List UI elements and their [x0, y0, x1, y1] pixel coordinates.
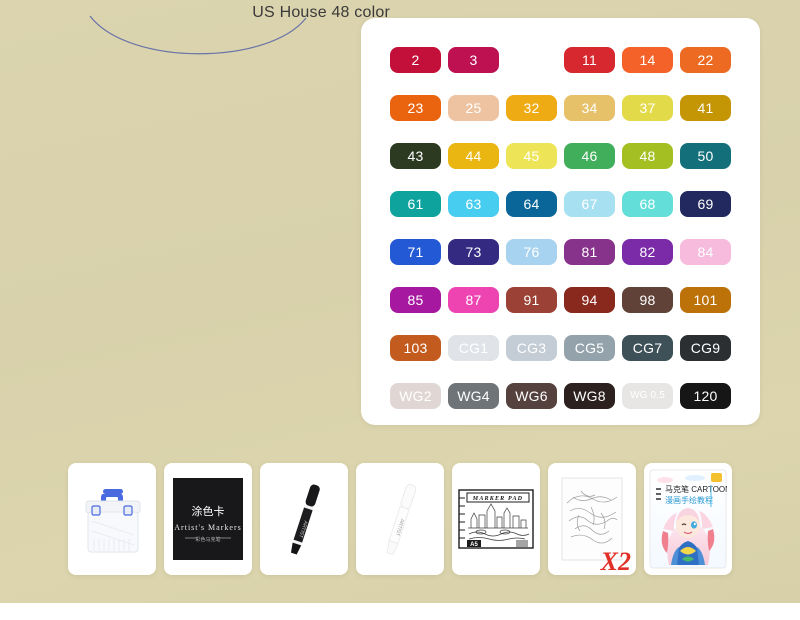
color-swatch[interactable]: 87 [448, 287, 499, 313]
thumbnail-black-marker-pen[interactable]: ARTIST [260, 463, 348, 575]
color-swatch[interactable]: CG7 [622, 335, 673, 361]
thumbnail-tutorial-book[interactable]: 马克笔 CARTOON 漫画手绘教程 [644, 463, 732, 575]
color-swatch[interactable]: 34 [564, 95, 615, 121]
color-swatch[interactable]: 41 [680, 95, 731, 121]
marker-pad-size: A5 [470, 542, 478, 548]
color-swatch[interactable]: WG 0,5 [622, 383, 673, 409]
color-swatch[interactable]: WG4 [448, 383, 499, 409]
color-swatch[interactable]: WG8 [564, 383, 615, 409]
color-card-line1: 涂色卡 [192, 504, 225, 518]
color-swatch[interactable]: 61 [390, 191, 441, 217]
color-swatch[interactable]: 82 [622, 239, 673, 265]
color-swatch[interactable]: 76 [506, 239, 557, 265]
black-marker-pen-icon: ARTIST [269, 473, 339, 565]
color-swatch[interactable]: 98 [622, 287, 673, 313]
color-swatch[interactable]: CG5 [564, 335, 615, 361]
carry-case-icon [76, 475, 148, 563]
thumbnail-marker-pad[interactable]: MARKER PAD A5 [452, 463, 540, 575]
color-swatch[interactable]: 69 [680, 191, 731, 217]
color-swatch-grid: 2361114222325323437414344454648506163646… [390, 47, 731, 409]
color-swatch[interactable]: 46 [564, 143, 615, 169]
thumbnail-line-art-sheet[interactable]: X2 [548, 463, 636, 575]
marker-pad-icon: MARKER PAD A5 [457, 488, 535, 550]
color-swatch[interactable]: 63 [448, 191, 499, 217]
color-swatch[interactable]: 50 [680, 143, 731, 169]
color-swatch[interactable]: 44 [448, 143, 499, 169]
quantity-badge: X2 [601, 547, 631, 575]
color-swatch[interactable]: CG3 [506, 335, 557, 361]
color-swatch[interactable]: 22 [680, 47, 731, 73]
thumbnail-carry-case[interactable] [68, 463, 156, 575]
color-swatch[interactable]: WG6 [506, 383, 557, 409]
color-card-icon: 涂色卡 Artist's Markers 彩色马克笔 [173, 478, 243, 560]
color-swatch[interactable]: 73 [448, 239, 499, 265]
color-swatch[interactable]: 2 [390, 47, 441, 73]
tutorial-book-line2: 漫画手绘教程 [665, 495, 713, 505]
color-card-line2: Artist's Markers [174, 523, 241, 532]
thumbnail-white-marker-pen[interactable]: ARTIST [356, 463, 444, 575]
color-swatch[interactable]: 45 [506, 143, 557, 169]
decorative-arc [88, 14, 308, 62]
color-swatch[interactable]: 94 [564, 287, 615, 313]
color-swatch[interactable]: 68 [622, 191, 673, 217]
color-swatch[interactable]: 23 [390, 95, 441, 121]
thumbnail-color-card[interactable]: 涂色卡 Artist's Markers 彩色马克笔 [164, 463, 252, 575]
color-swatch-panel: 2361114222325323437414344454648506163646… [361, 18, 760, 425]
product-detail-page: US House 48 color 2361114222325323437414… [0, 0, 800, 620]
white-marker-pen-icon: ARTIST [365, 473, 435, 565]
color-swatch[interactable]: CG1 [448, 335, 499, 361]
color-swatch[interactable]: 67 [564, 191, 615, 217]
color-swatch[interactable]: 14 [622, 47, 673, 73]
tutorial-book-line1: 马克笔 CARTOON [665, 484, 727, 494]
color-swatch[interactable]: 48 [622, 143, 673, 169]
color-swatch[interactable]: 103 [390, 335, 441, 361]
color-swatch[interactable]: 25 [448, 95, 499, 121]
marker-pad-title: MARKER PAD [472, 496, 523, 502]
color-swatch[interactable]: 91 [506, 287, 557, 313]
color-swatch[interactable]: 6 [506, 47, 557, 73]
color-swatch[interactable]: 71 [390, 239, 441, 265]
color-swatch[interactable]: 37 [622, 95, 673, 121]
tutorial-book-icon: 马克笔 CARTOON 漫画手绘教程 [649, 469, 727, 569]
color-swatch[interactable]: 32 [506, 95, 557, 121]
color-swatch[interactable]: 11 [564, 47, 615, 73]
color-swatch[interactable]: CG9 [680, 335, 731, 361]
color-swatch[interactable]: WG2 [390, 383, 441, 409]
product-thumbnail-strip: 涂色卡 Artist's Markers 彩色马克笔 ARTIST [68, 463, 732, 575]
color-swatch[interactable]: 64 [506, 191, 557, 217]
color-swatch[interactable]: 81 [564, 239, 615, 265]
color-swatch[interactable]: 84 [680, 239, 731, 265]
color-swatch[interactable]: 120 [680, 383, 731, 409]
color-swatch[interactable]: 101 [680, 287, 731, 313]
color-swatch[interactable]: 85 [390, 287, 441, 313]
color-swatch[interactable]: 43 [390, 143, 441, 169]
color-card-line3: 彩色马克笔 [195, 536, 220, 543]
color-swatch[interactable]: 3 [448, 47, 499, 73]
